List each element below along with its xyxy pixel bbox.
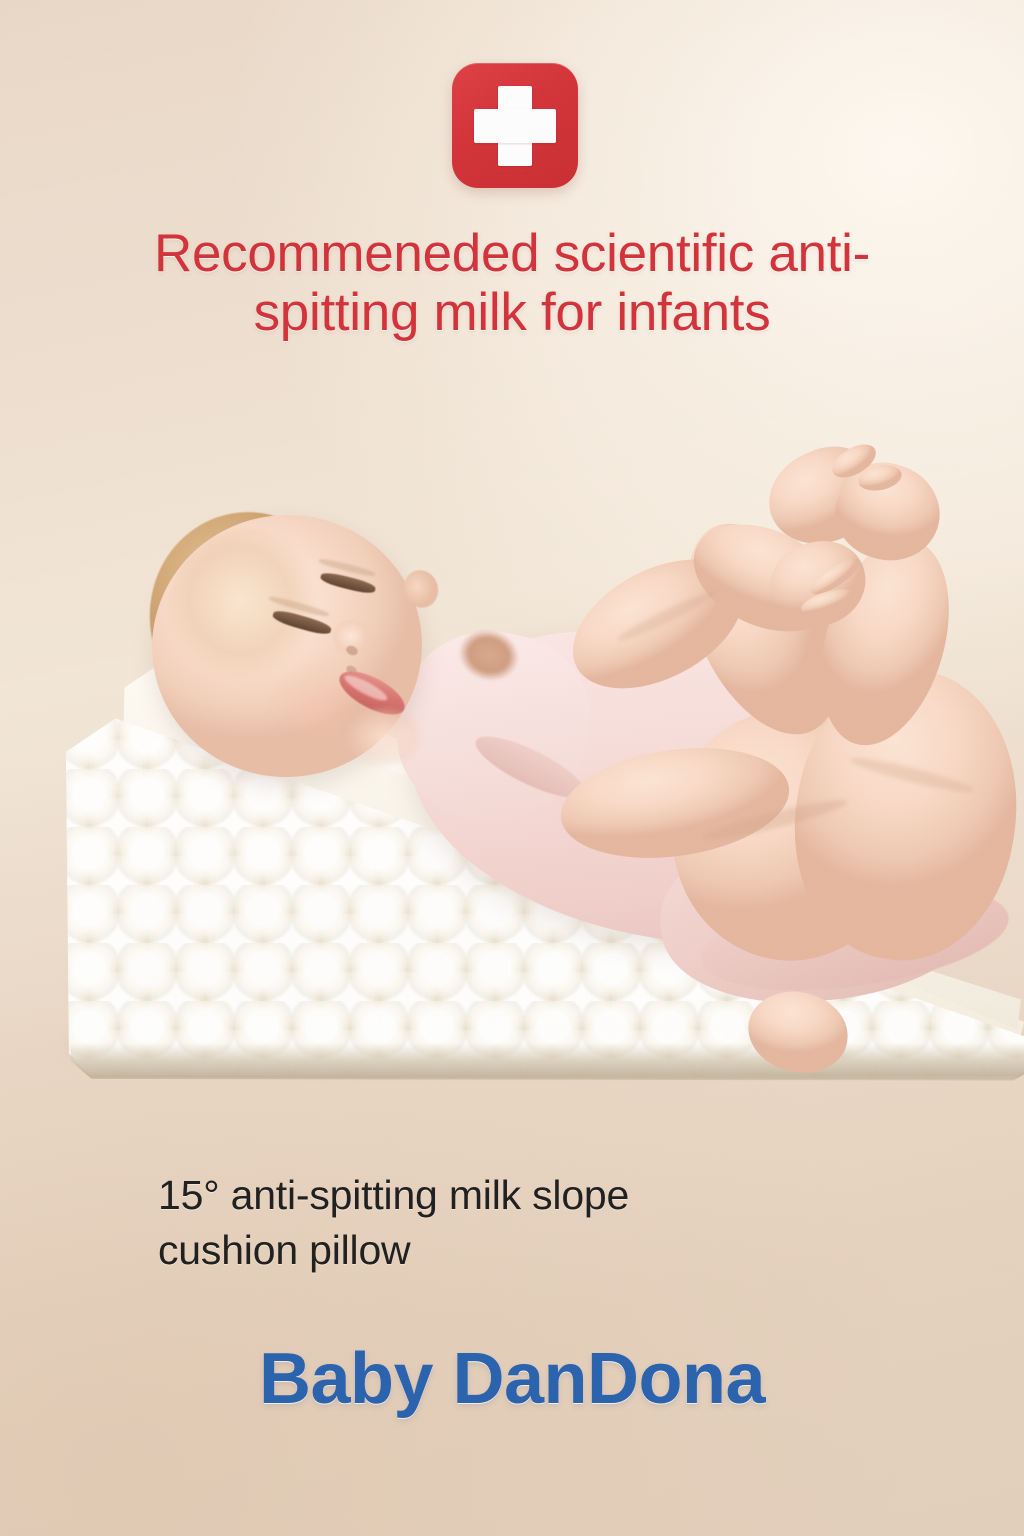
cross-horizontal-bar xyxy=(474,109,556,143)
headline-line-2: spitting milk for infants xyxy=(62,283,962,342)
headline-line-1: Recommeneded scientific anti- xyxy=(62,224,962,283)
product-subtitle: 15° anti-spitting milk slope cushion pil… xyxy=(158,1168,918,1279)
brand-name: Baby DanDona xyxy=(0,1338,1024,1420)
subtitle-line-2: cushion pillow xyxy=(158,1223,918,1278)
baby-nose xyxy=(330,618,380,666)
product-photo xyxy=(0,420,1024,1120)
subtitle-line-1: 15° anti-spitting milk slope xyxy=(158,1168,918,1223)
baby-chin xyxy=(336,706,432,780)
product-poster: Recommeneded scientific anti- spitting m… xyxy=(0,0,1024,1536)
baby-figure xyxy=(0,420,1024,1120)
medical-cross-icon xyxy=(452,63,578,188)
headline: Recommeneded scientific anti- spitting m… xyxy=(62,224,962,343)
